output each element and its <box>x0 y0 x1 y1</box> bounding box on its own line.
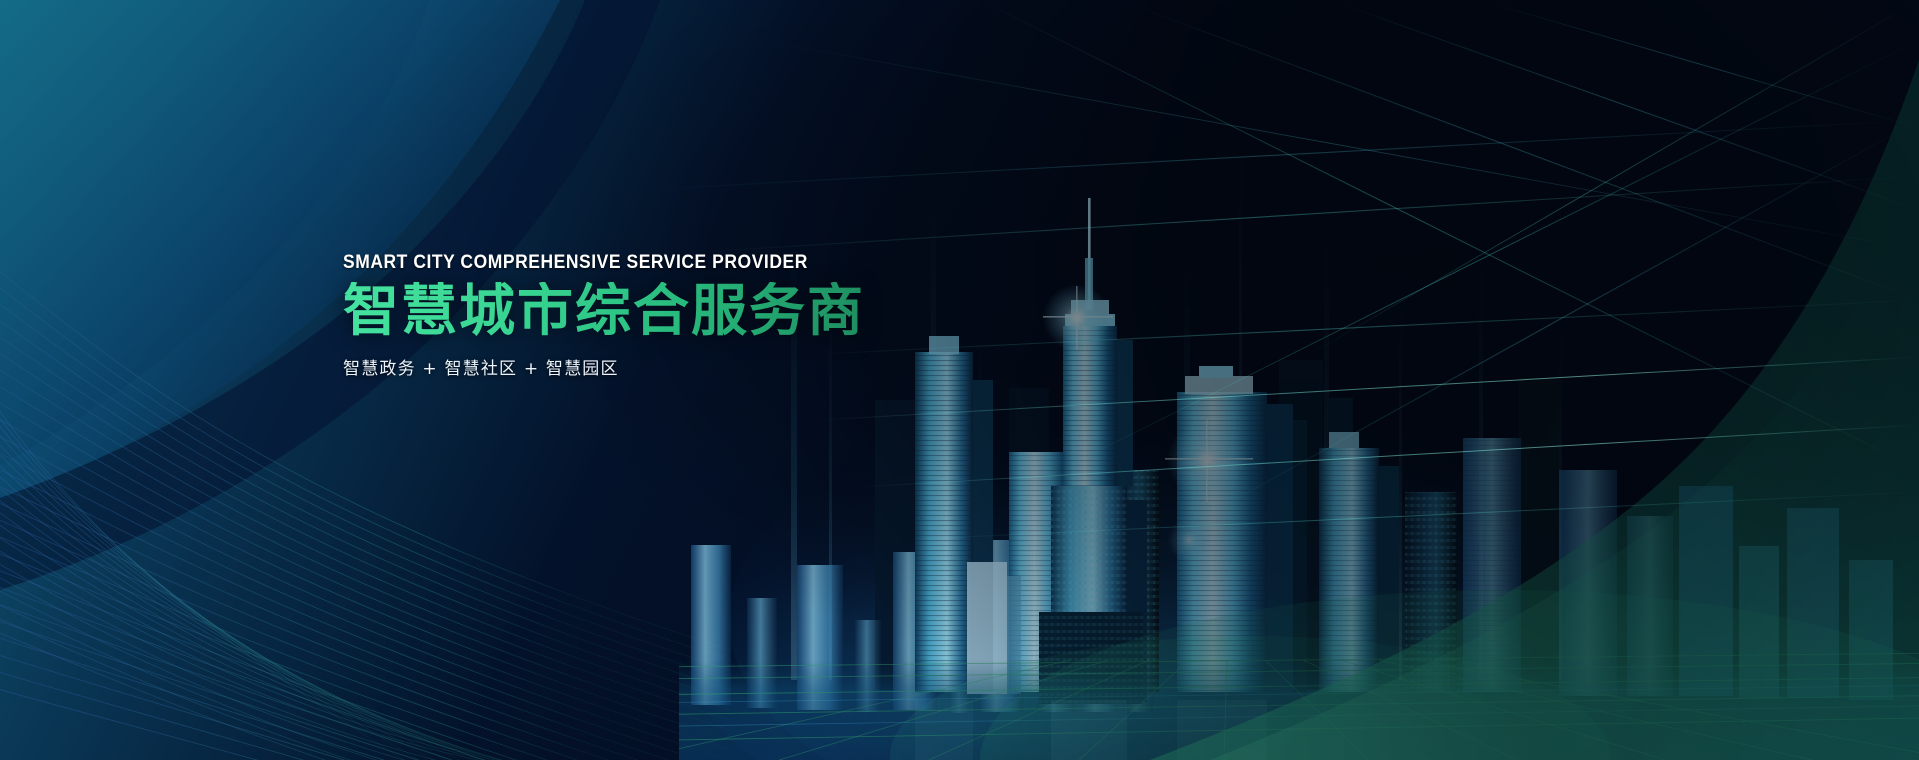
hero-copy: SMART CITY COMPREHENSIVE SERVICE PROVIDE… <box>343 252 865 379</box>
ground-grid <box>679 652 1919 760</box>
page-title: 智慧城市综合服务商 <box>343 282 865 342</box>
hero-banner: SMART CITY COMPREHENSIVE SERVICE PROVIDE… <box>0 0 1919 760</box>
eyebrow-text: SMART CITY COMPREHENSIVE SERVICE PROVIDE… <box>343 252 823 274</box>
glass-tower-main <box>1165 366 1307 692</box>
subtitle-text: 智慧政务 + 智慧社区 + 智慧园区 <box>343 354 865 379</box>
city-skyline <box>679 0 1919 760</box>
